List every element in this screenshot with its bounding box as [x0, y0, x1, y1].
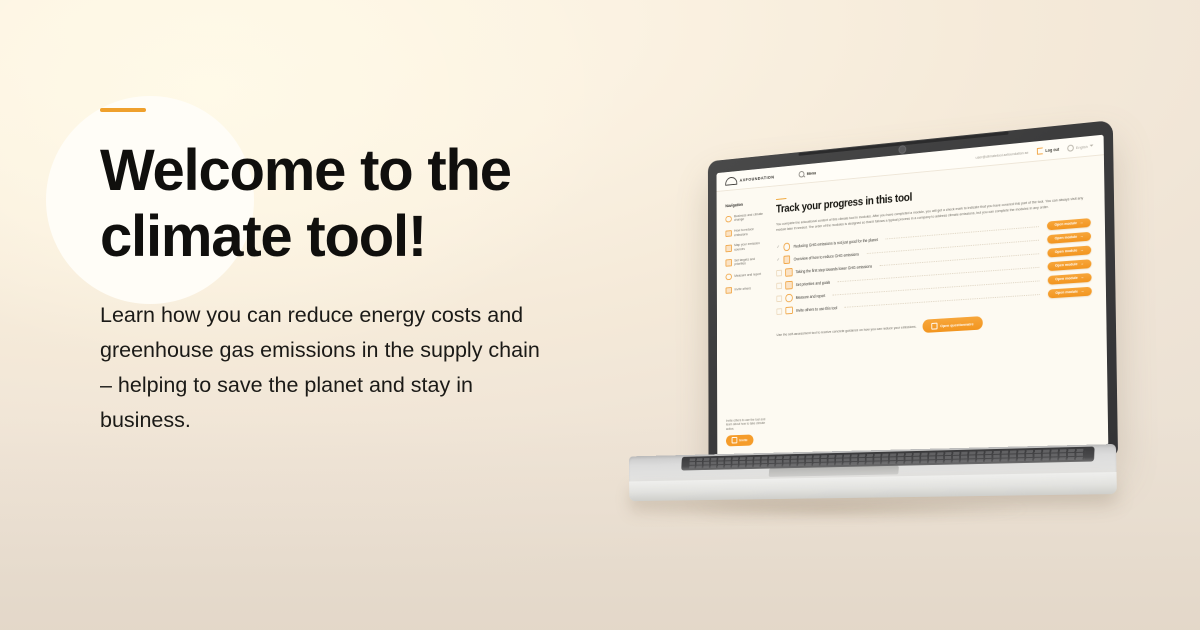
hero-copy: Welcome to the climate tool! Learn how y… [100, 108, 570, 438]
sidebar: Navigation Business and climate change H… [717, 187, 773, 458]
target-icon [785, 281, 792, 289]
sidebar-item-label: Map your emission sources [734, 241, 764, 251]
app-window: AXFOUNDATION Menu user@climatetool.axfou… [717, 135, 1109, 458]
module-label: Taking the first step towards lower GHG … [796, 264, 873, 274]
axfoundation-logo-icon [725, 176, 737, 184]
module-label: Set priorities and goals [796, 280, 831, 287]
clipboard-icon [931, 322, 937, 329]
open-questionnaire-label: Open questionnaire [940, 321, 973, 328]
arrow-right-icon: → [1081, 289, 1085, 293]
module-label: Measure and report [796, 293, 826, 300]
sidebar-item-label: Set targets and priorities [734, 256, 764, 266]
laptop-lid: AXFOUNDATION Menu user@climatetool.axfou… [708, 120, 1118, 468]
sidebar-item-measure-report[interactable]: Measure and report [726, 271, 765, 281]
language-selector[interactable]: English [1067, 142, 1093, 151]
laptop-mockup: AXFOUNDATION Menu user@climatetool.axfou… [540, 108, 1140, 518]
person-add-icon [732, 437, 738, 444]
sidebar-item-how-to-reduce[interactable]: How to reduce emissions [725, 227, 763, 238]
check-icon: ✓ [776, 258, 780, 263]
checkbox-empty-icon [776, 282, 782, 289]
logout-icon [1037, 147, 1043, 154]
open-module-label: Open module [1055, 249, 1078, 255]
language-label: English [1076, 144, 1088, 150]
arrow-right-icon: → [1080, 221, 1084, 225]
user-email: user@climatetool.axfoundation.se [976, 149, 1029, 159]
open-module-label: Open module [1054, 221, 1077, 227]
brand-name: AXFOUNDATION [740, 174, 775, 182]
chart-icon [726, 273, 732, 280]
globe-icon [1067, 144, 1074, 151]
person-add-icon [786, 307, 793, 315]
checkbox-empty-icon [776, 295, 782, 302]
hero-subcopy: Learn how you can reduce energy costs an… [100, 298, 550, 437]
laptop-base [629, 444, 1117, 508]
logout-label: Log out [1045, 146, 1059, 152]
arrow-right-icon: → [1080, 262, 1084, 266]
open-module-button[interactable]: Open module → [1047, 245, 1091, 258]
map-icon [725, 245, 731, 252]
sidebar-item-targets[interactable]: Set targets and priorities [726, 256, 765, 267]
hero-banner: Welcome to the climate tool! Learn how y… [0, 0, 1200, 630]
menu-button[interactable]: Menu [799, 169, 816, 177]
invite-button[interactable]: Invite [726, 434, 753, 446]
open-module-label: Open module [1055, 235, 1078, 241]
lightbulb-icon [783, 243, 790, 251]
module-label: Reducing GHG emissions is not just good … [794, 237, 878, 248]
check-icon: ✓ [776, 245, 780, 250]
open-module-label: Open module [1055, 290, 1078, 295]
gauge-icon [786, 294, 793, 302]
footstep-icon [785, 268, 792, 276]
section-accent-rule [776, 198, 787, 200]
arrow-right-icon: → [1080, 235, 1084, 239]
open-module-button[interactable]: Open module → [1047, 231, 1091, 244]
open-questionnaire-button[interactable]: Open questionnaire [923, 316, 983, 333]
arrow-right-icon: → [1080, 276, 1084, 280]
target-icon [726, 259, 732, 266]
open-module-label: Open module [1055, 262, 1078, 268]
sidebar-heading: Navigation [725, 200, 763, 208]
module-list: ✓ Reducing GHG emissions is not just goo… [776, 218, 1092, 316]
main-content: Track your progress in this tool You com… [771, 155, 1108, 456]
module-label: Invite others to use this tool [796, 305, 837, 312]
accent-rule [100, 108, 146, 112]
sidebar-item-label: Measure and report [734, 273, 761, 279]
sidebar-invite-text: Invite others to use the tool and learn … [726, 417, 768, 432]
circle-outline-icon [725, 215, 731, 222]
menu-label: Menu [807, 170, 816, 175]
sidebar-item-label: Business and climate change [734, 212, 764, 223]
sidebar-item-invite-others[interactable]: Invite others [726, 285, 765, 295]
webcam-icon [898, 145, 906, 154]
trackpad [768, 466, 898, 477]
search-icon [799, 170, 805, 177]
checkbox-empty-icon [776, 269, 782, 276]
questionnaire-row: Use the self-assessment tool to receive … [777, 309, 1093, 341]
sidebar-item-map-sources[interactable]: Map your emission sources [725, 241, 764, 252]
arrow-right-icon: → [1080, 248, 1084, 252]
questionnaire-text: Use the self-assessment tool to receive … [777, 325, 917, 337]
book-icon [784, 255, 791, 263]
page-title: Welcome to the climate tool! [100, 138, 560, 270]
open-module-label: Open module [1055, 276, 1078, 281]
checkbox-empty-icon [776, 308, 782, 315]
chevron-down-icon [1090, 144, 1094, 146]
brand-logo[interactable]: AXFOUNDATION [725, 173, 774, 185]
open-module-button[interactable]: Open module → [1048, 286, 1092, 298]
sidebar-invite-box: Invite others to use the tool and learn … [726, 417, 768, 446]
logout-button[interactable]: Log out [1037, 145, 1060, 154]
laptop-screen: AXFOUNDATION Menu user@climatetool.axfou… [717, 135, 1109, 458]
open-module-button[interactable]: Open module → [1047, 218, 1091, 231]
open-module-button[interactable]: Open module → [1048, 272, 1092, 284]
invite-button-label: Invite [739, 438, 747, 443]
module-label: Overview of how to reduce GHG emissions [794, 252, 859, 262]
open-module-button[interactable]: Open module → [1047, 259, 1091, 272]
sidebar-item-label: How to reduce emissions [734, 227, 764, 237]
person-add-icon [726, 287, 732, 294]
document-icon [725, 230, 731, 237]
sidebar-item-business-climate[interactable]: Business and climate change [725, 212, 763, 223]
sidebar-item-label: Invite others [734, 287, 751, 292]
app-body: Navigation Business and climate change H… [717, 155, 1109, 457]
